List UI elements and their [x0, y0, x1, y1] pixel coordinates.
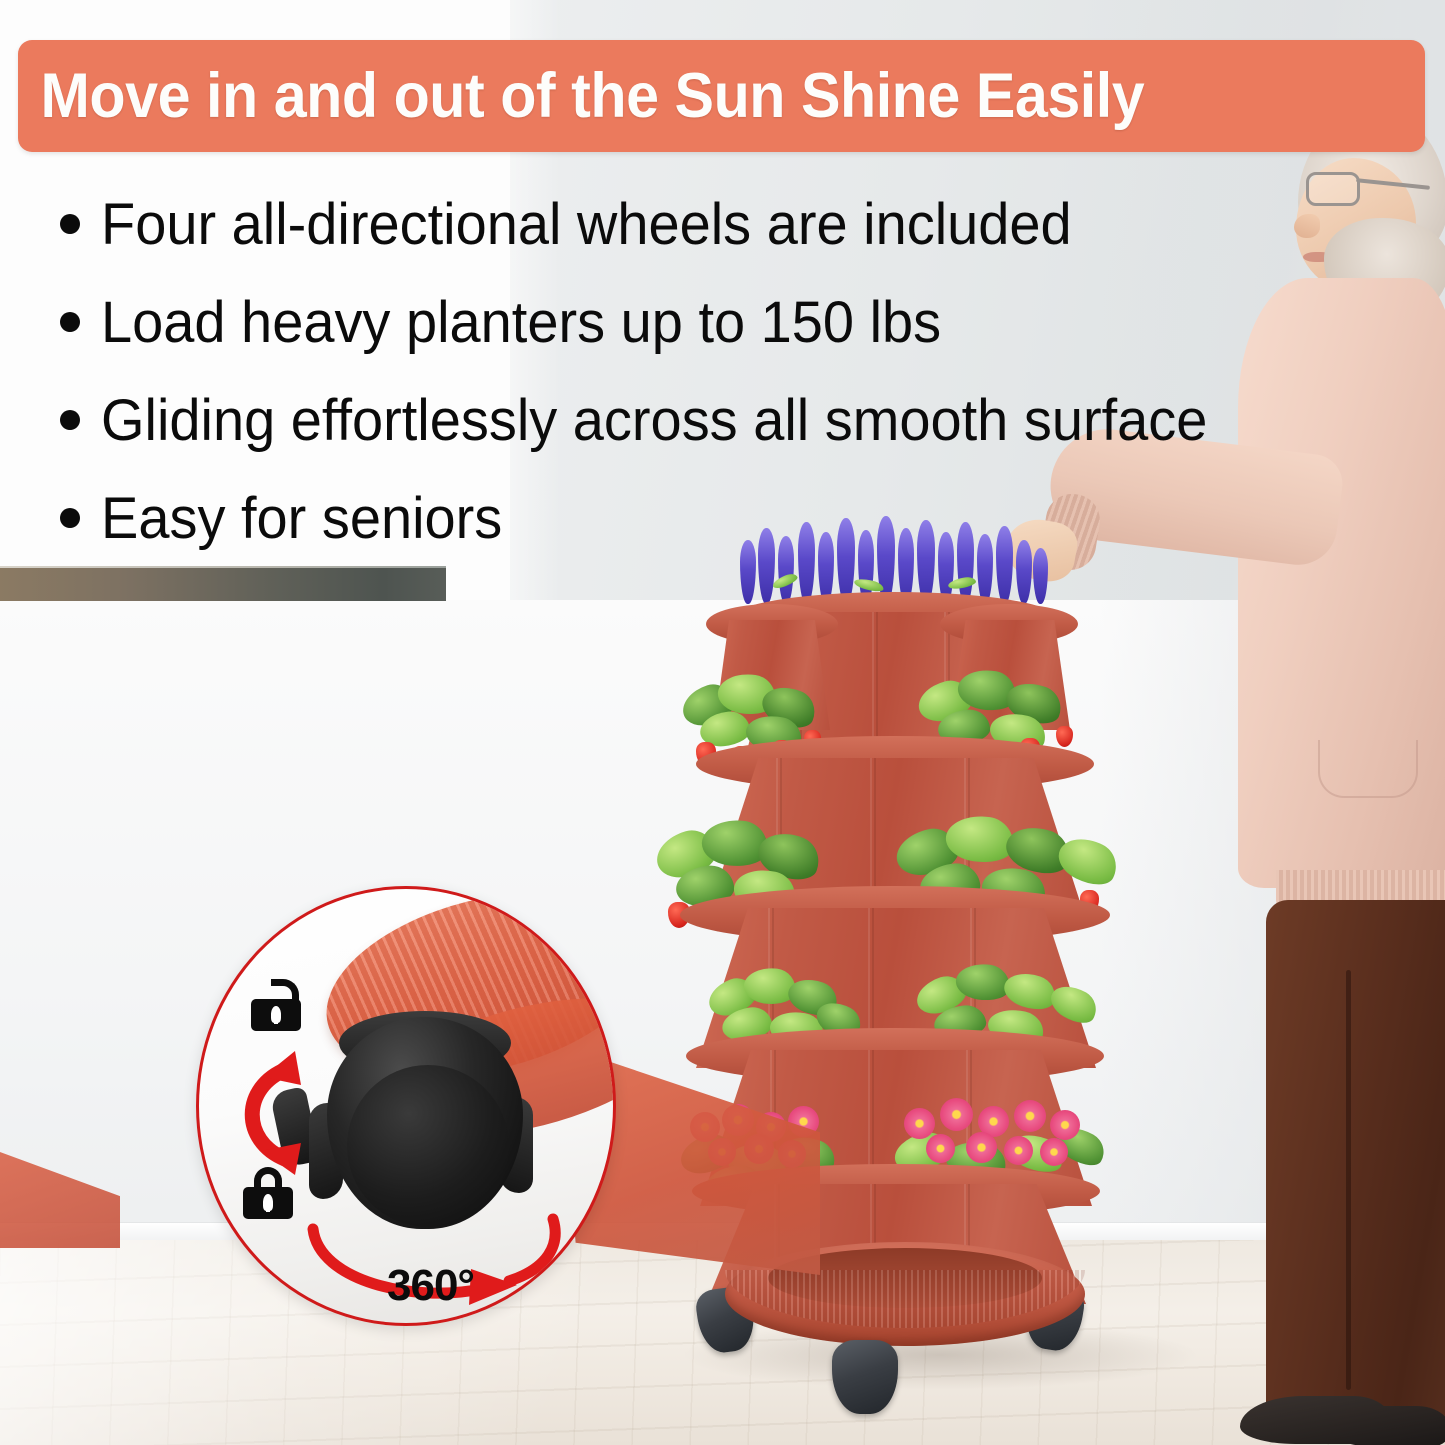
trousers — [1266, 900, 1445, 1430]
trouser-seam — [1346, 970, 1351, 1390]
bullet-dot-icon — [60, 410, 80, 430]
lock-icon — [243, 1173, 293, 1219]
list-item: Four all-directional wheels are included — [60, 196, 1420, 294]
list-item: Easy for seniors — [60, 490, 1420, 588]
sweater-pocket — [1318, 740, 1418, 798]
double-arrow-icon — [223, 1047, 315, 1179]
bullet-label: Gliding effortlessly across all smooth s… — [101, 392, 1207, 450]
banner-title: Move in and out of the Sun Shine Easily — [18, 65, 1144, 128]
list-item: Gliding effortlessly across all smooth s… — [60, 392, 1420, 490]
bullet-label: Four all-directional wheels are included — [101, 196, 1072, 254]
caster-detail-callout: 360° — [196, 886, 616, 1326]
bullet-label: Easy for seniors — [101, 490, 502, 548]
unlock-icon — [251, 985, 301, 1031]
stackable-planter-tower — [640, 500, 1160, 1400]
rotation-label: 360° — [387, 1261, 474, 1311]
bullet-dot-icon — [60, 508, 80, 528]
caster-wheel-front — [832, 1340, 898, 1414]
feature-bullet-list: Four all-directional wheels are included… — [60, 196, 1420, 588]
product-infographic: 360° Move in and out of the Sun Shine Ea… — [0, 0, 1445, 1445]
bullet-dot-icon — [60, 312, 80, 332]
bullet-dot-icon — [60, 214, 80, 234]
header-banner: Move in and out of the Sun Shine Easily — [18, 40, 1425, 152]
shoe-right — [1330, 1406, 1445, 1445]
bullet-label: Load heavy planters up to 150 lbs — [101, 294, 941, 352]
list-item: Load heavy planters up to 150 lbs — [60, 294, 1420, 392]
